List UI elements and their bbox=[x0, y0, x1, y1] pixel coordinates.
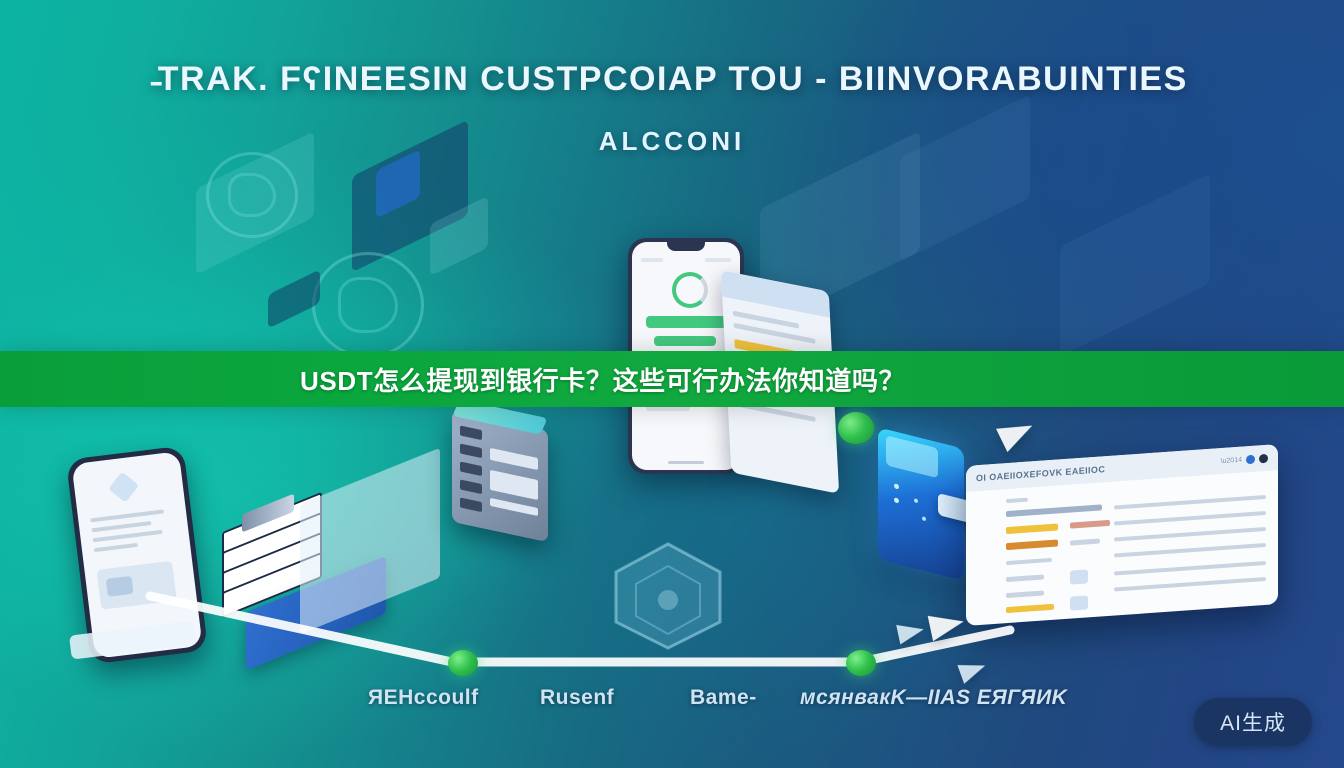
flow-label-3: мсянвакK—IIAS EЯГЯИK bbox=[800, 686, 1067, 710]
banner-image: ̵TRAK. FʕINEESIN CUSTPCOIAP TOU - BIINVO… bbox=[0, 0, 1344, 768]
progress-ring-icon bbox=[672, 272, 708, 308]
article-title-banner: USDT怎么提现到银行卡？这些可行办法你知道吗？ bbox=[0, 351, 1344, 407]
browser-controls: \u2014 bbox=[1221, 453, 1268, 465]
browser-content bbox=[966, 470, 1278, 626]
ai-generated-badge: AI生成 bbox=[1194, 698, 1312, 746]
bg-network-icon bbox=[206, 152, 298, 238]
flow-node-top bbox=[838, 412, 874, 444]
page-title: USDT怎么提现到银行卡？这些可行办法你知道吗？ bbox=[300, 361, 905, 398]
phone-notch bbox=[667, 242, 705, 251]
hex-network-graphic bbox=[608, 540, 728, 650]
flow-label-0: ЯEHccoulf bbox=[368, 686, 479, 710]
app-diamond-icon bbox=[108, 472, 139, 503]
avatar[interactable] bbox=[1259, 453, 1268, 463]
flow-label-2: Bame- bbox=[690, 686, 757, 710]
browser-window: OI OAEIIOXEFOVK EAEIIOC \u2014 bbox=[966, 444, 1278, 626]
server-device bbox=[452, 410, 548, 542]
flow-label-1: Rusenf bbox=[540, 686, 614, 710]
flow-node-left bbox=[448, 650, 478, 676]
bg-network-icon-2 bbox=[312, 252, 424, 358]
phone-home-indicator bbox=[668, 461, 704, 464]
account-icon[interactable] bbox=[1246, 454, 1255, 464]
flow-node-right bbox=[846, 650, 876, 676]
phone-screen-sheen bbox=[886, 435, 938, 478]
browser-title: OI OAEIIOXEFOVK EAEIIOC bbox=[976, 464, 1105, 483]
subheadline-text: ALCCONI bbox=[0, 126, 1344, 157]
headline-text: ̵TRAK. FʕINEESIN CUSTPCOIAP TOU - BIINVO… bbox=[0, 60, 1344, 99]
